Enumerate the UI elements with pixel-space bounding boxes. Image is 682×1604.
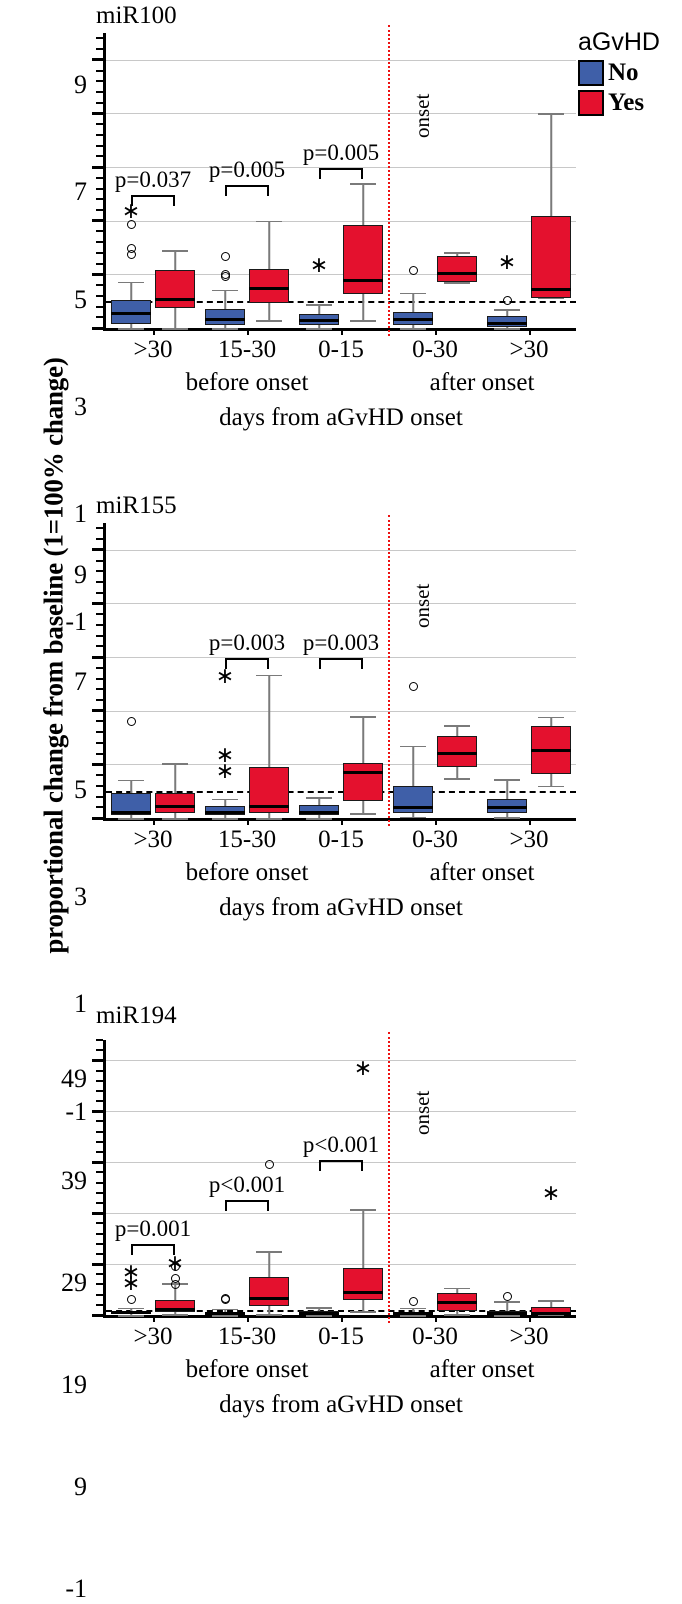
outlier-star-marker: ∗ (498, 251, 516, 273)
x-tick (341, 1315, 343, 1322)
y-tick-minor (96, 80, 103, 82)
plot-area: onset>3015-300-150-30>30before onsetafte… (103, 1040, 576, 1318)
median-line (437, 1301, 477, 1304)
legend-item-yes[interactable]: Yes (578, 89, 682, 117)
x-axis-title: days from aGvHD onset (219, 894, 463, 922)
x-tick (247, 328, 249, 335)
whisker-cap-high (350, 1209, 376, 1211)
whisker-cap-low (118, 818, 144, 820)
y-tick-minor (96, 1141, 103, 1143)
plot-area: onset>3015-300-150-30>30before onsetafte… (103, 523, 576, 821)
x-category-label: 15-30 (218, 1323, 276, 1351)
median-line (487, 322, 527, 325)
whisker-cap-high (494, 309, 520, 311)
whisker-cap-low (444, 778, 470, 780)
median-line (205, 811, 245, 814)
y-tick-minor (96, 645, 103, 647)
plot-inner: onset>3015-300-150-30>30before onsetafte… (106, 33, 576, 328)
box-plot-yes[interactable] (155, 523, 195, 818)
y-tick-minor (96, 48, 103, 50)
y-tick-minor (96, 1283, 103, 1285)
outlier-circle-marker (171, 1280, 180, 1289)
y-tick-minor (96, 527, 103, 529)
x-category-label: 15-30 (218, 336, 276, 364)
whisker-cap-low (350, 320, 376, 322)
panel-title: miR194 (96, 1002, 177, 1030)
legend: aGvHD No Yes (578, 28, 682, 117)
box-plot-no[interactable] (299, 523, 339, 818)
whisker-cap-low (162, 818, 188, 820)
x-axis-title: days from aGvHD onset (219, 1391, 463, 1419)
y-tick-minor (96, 1243, 103, 1245)
x-category-label: >30 (133, 1323, 172, 1351)
y-tick-minor (96, 155, 103, 157)
box-rect (343, 1268, 383, 1300)
whisker-cap-high (494, 779, 520, 781)
y-tick-major: 9 (92, 1263, 103, 1266)
y-tick-minor (96, 134, 103, 136)
median-line (249, 1297, 289, 1300)
y-axis-ticks: -113579 (88, 523, 103, 818)
y-tick-minor (96, 209, 103, 211)
whisker-cap-low (400, 328, 426, 330)
whisker-cap-low (494, 1315, 520, 1317)
outlier-star-marker: ∗ (216, 760, 234, 782)
y-tick-minor (96, 1192, 103, 1194)
x-tick (247, 818, 249, 825)
outlier-star-marker: ∗ (166, 1252, 184, 1274)
y-tick-minor (96, 1131, 103, 1133)
x-group-label: after onset (430, 369, 535, 397)
y-tick-minor (96, 667, 103, 669)
y-tick-minor (96, 241, 103, 243)
legend-label-yes: Yes (608, 89, 644, 117)
x-category-label: >30 (133, 826, 172, 854)
onset-divider-line (388, 25, 390, 336)
significance-p-value: p=0.001 (115, 1216, 191, 1242)
plot-inner: onset>3015-300-150-30>30before onsetafte… (106, 1040, 576, 1315)
y-tick-minor (96, 785, 103, 787)
significance-p-value: p=0.037 (115, 167, 191, 193)
y-tick-minor (96, 1090, 103, 1092)
outlier-circle-marker (221, 252, 230, 261)
y-tick-minor (96, 699, 103, 701)
whisker-cap-low (256, 1314, 282, 1316)
whisker-cap-high (494, 1301, 520, 1303)
y-tick-label: 7 (74, 667, 87, 697)
whisker-cap-low (256, 320, 282, 322)
whisker-cap-low (494, 817, 520, 819)
x-category-label: 0-30 (412, 1323, 458, 1351)
y-tick-minor (96, 306, 103, 308)
whisker-cap-low (212, 1315, 238, 1317)
y-tick-major: 9 (92, 58, 103, 61)
y-tick-label: 3 (74, 882, 87, 912)
y-tick-label: 9 (74, 1472, 87, 1502)
y-tick-minor (96, 581, 103, 583)
whisker-cap-high (212, 290, 238, 292)
whisker-cap-high (162, 763, 188, 765)
x-category-label: 0-15 (318, 1323, 364, 1351)
significance-bracket (225, 185, 269, 196)
median-line (205, 1312, 245, 1315)
y-tick-label: 5 (74, 775, 87, 805)
outlier-star-marker: ∗ (122, 1272, 140, 1294)
x-group-label: before onset (186, 369, 309, 397)
significance-p-value: p<0.001 (303, 1132, 379, 1158)
significance-p-value: p=0.005 (303, 140, 379, 166)
whisker-cap-high (212, 1309, 238, 1311)
x-tick (153, 1315, 155, 1322)
outlier-circle-marker (127, 1295, 136, 1304)
y-tick-minor (96, 145, 103, 147)
median-line (393, 318, 433, 321)
box-rect (155, 270, 195, 308)
chart-panel-mir194: miR194 -1919293949 onset>3015-300-150-30… (0, 1000, 682, 1453)
y-tick-minor (96, 1253, 103, 1255)
y-tick-minor (96, 1182, 103, 1184)
box-plot-no[interactable] (111, 523, 151, 818)
significance-p-value: p=0.003 (303, 630, 379, 656)
y-tick-minor (96, 592, 103, 594)
median-line (343, 1291, 383, 1294)
y-tick-major: 3 (92, 709, 103, 712)
median-line (249, 287, 289, 290)
median-line (437, 272, 477, 275)
box-plot-yes[interactable]: ∗ (343, 1040, 383, 1315)
y-axis-ticks: -1919293949 (88, 1040, 103, 1315)
y-tick-label: 7 (74, 177, 87, 207)
y-tick-minor (96, 1222, 103, 1224)
y-tick-minor (96, 624, 103, 626)
y-tick-minor (96, 742, 103, 744)
y-tick-minor (96, 570, 103, 572)
x-axis-title: days from aGvHD onset (219, 404, 463, 432)
x-tick (529, 328, 531, 335)
median-line (111, 312, 151, 315)
y-tick-label: 9 (74, 560, 87, 590)
y-tick-major: -1 (92, 327, 103, 330)
y-tick-major: 7 (92, 602, 103, 605)
significance-p-value: p<0.001 (209, 1172, 285, 1198)
y-tick-minor (96, 263, 103, 265)
significance-bracket (131, 195, 175, 206)
whisker-cap-low (306, 818, 332, 820)
median-line (299, 1312, 339, 1315)
outlier-circle-marker (503, 296, 512, 305)
median-line (155, 805, 195, 808)
x-tick (435, 328, 437, 335)
y-tick-minor (96, 538, 103, 540)
significance-bracket (319, 168, 363, 179)
x-category-label: 0-30 (412, 336, 458, 364)
y-tick-major: 1 (92, 763, 103, 766)
y-tick-minor (96, 1100, 103, 1102)
significance-p-value: p=0.003 (209, 630, 285, 656)
box-plot-no[interactable]: ∗∗∗ (205, 523, 245, 818)
x-group-label: before onset (186, 1356, 309, 1384)
y-tick-major: 7 (92, 112, 103, 115)
chart-panel-mir155: miR155 -113579 onset>3015-300-150-30>30b… (0, 490, 682, 980)
y-tick-minor (96, 102, 103, 104)
whisker-cap-low (350, 813, 376, 815)
box-plot-yes[interactable] (531, 33, 571, 328)
median-line (343, 771, 383, 774)
y-tick-minor (96, 1120, 103, 1122)
y-tick-label: 19 (61, 1370, 87, 1400)
box-plot-yes[interactable] (437, 33, 477, 328)
median-line (343, 279, 383, 282)
x-tick (247, 1315, 249, 1322)
x-tick (341, 818, 343, 825)
y-tick-major: 19 (92, 1212, 103, 1215)
y-axis-ticks: -113579 (88, 33, 103, 328)
y-tick-minor (96, 37, 103, 39)
legend-item-no[interactable]: No (578, 59, 682, 87)
y-tick-minor (96, 1202, 103, 1204)
y-tick-minor (96, 1070, 103, 1072)
median-line (437, 752, 477, 755)
y-tick-minor (96, 70, 103, 72)
y-tick-label: 9 (74, 70, 87, 100)
whisker-cap-high (444, 725, 470, 727)
whisker-cap-high (118, 780, 144, 782)
y-tick-major: -1 (92, 1314, 103, 1317)
outlier-circle-marker (409, 682, 418, 691)
outlier-circle-marker (409, 1297, 418, 1306)
y-tick-major: 9 (92, 548, 103, 551)
plot-inner: onset>3015-300-150-30>30before onsetafte… (106, 523, 576, 818)
whisker-cap-low (306, 328, 332, 330)
whisker-cap-low (162, 328, 188, 330)
y-tick-minor (96, 123, 103, 125)
y-tick-minor (96, 720, 103, 722)
onset-divider-line (388, 515, 390, 826)
y-tick-minor (96, 1233, 103, 1235)
y-tick-minor (96, 1273, 103, 1275)
whisker-cap-low (444, 1314, 470, 1316)
box-rect (437, 256, 477, 282)
box-plot-yes[interactable] (249, 523, 289, 818)
y-tick-minor (96, 774, 103, 776)
whisker-cap-high (306, 797, 332, 799)
y-tick-minor (96, 1080, 103, 1082)
whisker-cap-low (256, 818, 282, 820)
box-rect (249, 269, 289, 303)
y-tick-label: 49 (61, 1064, 87, 1094)
x-group-label: after onset (430, 1356, 535, 1384)
x-tick (435, 1315, 437, 1322)
significance-p-value: p=0.005 (209, 157, 285, 183)
significance-bracket (225, 1200, 269, 1211)
box-plot-yes[interactable] (437, 523, 477, 818)
box-plot-yes[interactable]: ∗ (155, 1040, 195, 1315)
y-tick-minor (96, 1304, 103, 1306)
y-tick-minor (96, 806, 103, 808)
box-plot-no[interactable]: ∗ (487, 33, 527, 328)
y-tick-minor (96, 731, 103, 733)
median-line (487, 806, 527, 809)
x-group-label: after onset (430, 859, 535, 887)
whisker-cap-high (350, 716, 376, 718)
whisker-cap-high (538, 717, 564, 719)
outlier-star-marker: ∗ (310, 254, 328, 276)
y-tick-minor (96, 316, 103, 318)
x-category-label: 0-15 (318, 826, 364, 854)
whisker-cap-low (444, 282, 470, 284)
x-category-label: 15-30 (218, 826, 276, 854)
whisker-cap-high (118, 282, 144, 284)
plot-area: onset>3015-300-150-30>30before onsetafte… (103, 33, 576, 331)
whisker-cap-low (118, 1315, 144, 1317)
whisker-cap-low (212, 328, 238, 330)
y-tick-minor (96, 678, 103, 680)
y-tick-minor (96, 613, 103, 615)
whisker-cap-low (400, 817, 426, 819)
x-tick (529, 818, 531, 825)
y-tick-major: 49 (92, 1059, 103, 1062)
x-category-label: 0-15 (318, 336, 364, 364)
median-line (531, 288, 571, 291)
whisker-cap-low (538, 786, 564, 788)
panel-title: miR100 (96, 2, 177, 30)
whisker-cap-high (538, 113, 564, 115)
y-tick-minor (96, 560, 103, 562)
y-tick-major: 5 (92, 656, 103, 659)
median-line (155, 1308, 195, 1311)
box-rect (249, 1277, 289, 1306)
y-tick-label: 39 (61, 1166, 87, 1196)
median-line (111, 811, 151, 814)
whisker-cap-high (400, 1308, 426, 1310)
outlier-star-marker: ∗ (354, 1057, 372, 1079)
whisker-cap-high (118, 1308, 144, 1310)
whisker-cap-low (306, 1315, 332, 1317)
x-category-label: >30 (509, 336, 548, 364)
outlier-circle-marker (409, 266, 418, 275)
y-tick-minor (96, 198, 103, 200)
legend-swatch-yes (578, 90, 604, 116)
box-plot-yes[interactable] (437, 1040, 477, 1315)
box-rect (155, 793, 195, 814)
whisker-cap-low (494, 328, 520, 330)
box-plot-no[interactable] (393, 33, 433, 328)
y-tick-label: 5 (74, 285, 87, 315)
outlier-star-marker: ∗ (542, 1182, 560, 1204)
median-line (111, 1311, 151, 1314)
y-tick-minor (96, 753, 103, 755)
x-tick (153, 328, 155, 335)
box-plot-no[interactable] (299, 1040, 339, 1315)
y-tick-minor (96, 1294, 103, 1296)
median-line (299, 319, 339, 322)
whisker-cap-high (256, 221, 282, 223)
box-plot-yes[interactable] (343, 33, 383, 328)
box-plot-no[interactable]: ∗∗ (111, 1040, 151, 1315)
median-line (393, 1312, 433, 1315)
y-tick-major: -1 (92, 817, 103, 820)
y-tick-minor (96, 295, 103, 297)
box-plot-no[interactable]: ∗ (299, 33, 339, 328)
outlier-circle-marker (127, 250, 136, 259)
y-tick-minor (96, 177, 103, 179)
x-tick (341, 328, 343, 335)
y-tick-major: 39 (92, 1110, 103, 1113)
box-plot-no[interactable] (487, 1040, 527, 1315)
box-plot-no[interactable] (487, 523, 527, 818)
significance-bracket (225, 658, 269, 669)
y-tick-minor (96, 1039, 103, 1041)
whisker-cap-high (256, 1251, 282, 1253)
y-tick-minor (96, 252, 103, 254)
whisker-cap-low (212, 818, 238, 820)
box-rect (205, 309, 245, 325)
panel-title: miR155 (96, 492, 177, 520)
box-rect (343, 225, 383, 294)
outlier-circle-marker (221, 272, 230, 281)
x-tick (435, 818, 437, 825)
whisker-cap-high (306, 304, 332, 306)
box-plot-no[interactable] (393, 1040, 433, 1315)
median-line (299, 811, 339, 814)
x-group-label: before onset (186, 859, 309, 887)
y-tick-minor (96, 188, 103, 190)
whisker-cap-high (444, 1288, 470, 1290)
significance-bracket (319, 658, 363, 669)
whisker-cap-low (350, 1311, 376, 1313)
legend-label-no: No (608, 59, 639, 87)
y-tick-minor (96, 635, 103, 637)
y-tick-major: 29 (92, 1161, 103, 1164)
box-rect (531, 216, 571, 299)
whisker-cap-high (306, 1307, 332, 1309)
median-line (487, 1312, 527, 1315)
y-tick-major: 5 (92, 166, 103, 169)
x-tick (529, 1315, 531, 1322)
median-line (205, 318, 245, 321)
x-category-label: >30 (509, 1323, 548, 1351)
box-plot-no[interactable] (393, 523, 433, 818)
box-plot-yes[interactable] (343, 523, 383, 818)
median-line (531, 1312, 571, 1315)
whisker-cap-high (256, 675, 282, 677)
whisker-cap-low (162, 1314, 188, 1316)
x-category-label: >30 (509, 826, 548, 854)
y-tick-minor (96, 1171, 103, 1173)
y-tick-minor (96, 284, 103, 286)
y-tick-label: -1 (65, 1574, 87, 1604)
outlier-circle-marker (265, 1160, 274, 1169)
significance-bracket (131, 1244, 175, 1255)
whisker-cap-low (118, 328, 144, 330)
y-tick-minor (96, 1049, 103, 1051)
box-plot-yes[interactable] (531, 523, 571, 818)
whisker-cap-high (350, 183, 376, 185)
box-rect (343, 763, 383, 801)
y-tick-minor (96, 230, 103, 232)
y-tick-minor (96, 688, 103, 690)
legend-title: aGvHD (578, 28, 682, 57)
significance-bracket (319, 1160, 363, 1171)
whisker-cap-high (212, 799, 238, 801)
outlier-circle-marker (127, 717, 136, 726)
outlier-circle-marker (503, 1292, 512, 1301)
y-tick-major: 3 (92, 219, 103, 222)
x-category-label: 0-30 (412, 826, 458, 854)
y-tick-label: 29 (61, 1268, 87, 1298)
y-tick-minor (96, 1151, 103, 1153)
box-plot-yes[interactable]: ∗ (531, 1040, 571, 1315)
